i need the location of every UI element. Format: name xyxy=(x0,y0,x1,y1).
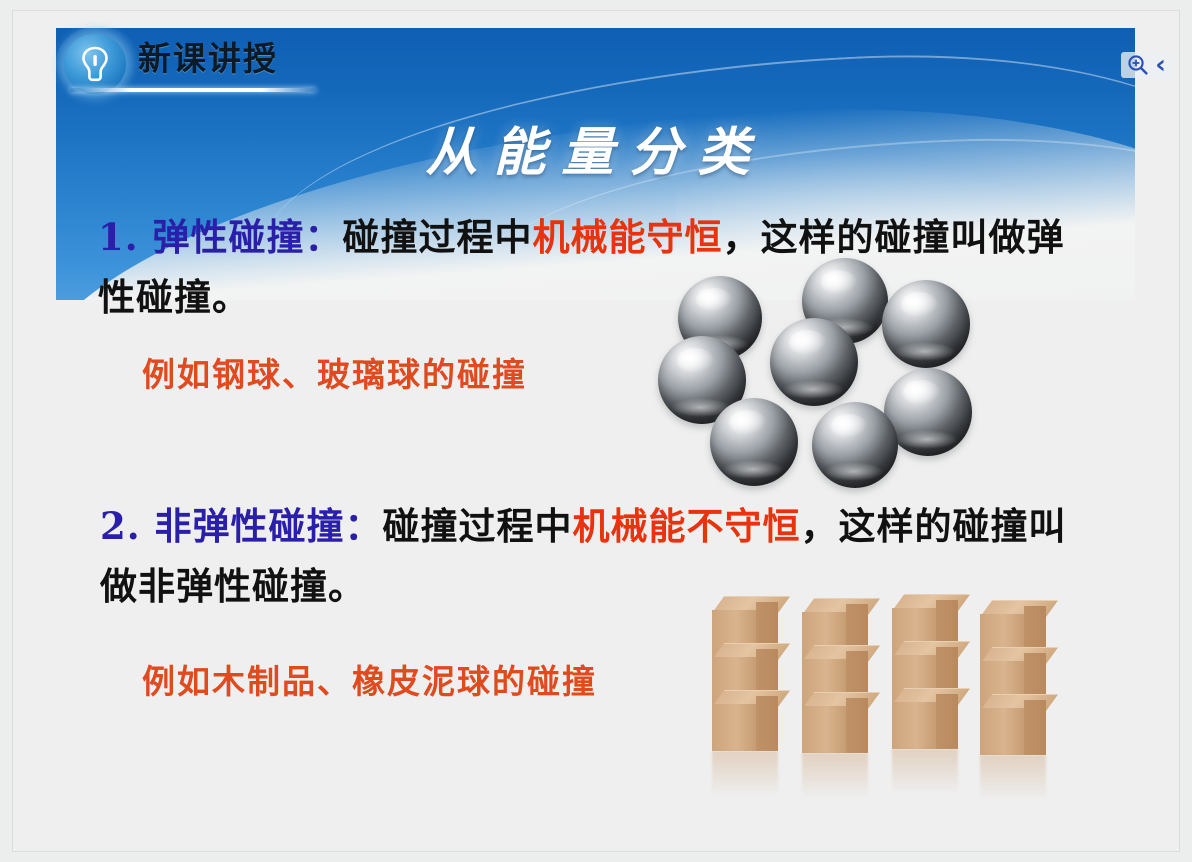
block-stack xyxy=(892,608,958,749)
wood-cube xyxy=(892,702,958,749)
block-reflection xyxy=(802,753,868,805)
zoom-controls[interactable]: ‹ xyxy=(1121,52,1172,78)
header-title: 新课讲授 xyxy=(138,34,278,84)
header-underline xyxy=(70,88,316,92)
zoom-in-icon[interactable] xyxy=(1127,54,1149,76)
block-stack xyxy=(802,612,868,753)
wood-cube xyxy=(802,706,868,753)
slide-root: 新课讲授 从能量分类 ‹ xyxy=(0,0,1192,862)
item-1-highlight: 机械能守恒 xyxy=(533,215,723,259)
item-1-text-after: ，这样的碰撞叫做弹 xyxy=(723,215,1065,259)
block-reflection xyxy=(712,751,778,803)
definition-1-line-1: 1. 弹性碰撞：碰撞过程中机械能守恒，这样的碰撞叫做弹 xyxy=(98,206,1065,268)
example-2: 例如木制品、橡皮泥球的碰撞 xyxy=(142,655,597,703)
item-2-term: 非弹性碰撞： xyxy=(155,504,383,548)
steel-ball xyxy=(882,280,970,368)
block-reflection xyxy=(892,749,958,801)
steel-ball xyxy=(770,318,858,406)
steel-ball xyxy=(812,402,898,488)
block-stack xyxy=(712,610,778,751)
steel-ball xyxy=(710,398,798,486)
wood-cube xyxy=(712,704,778,751)
page-title: 从能量分类 xyxy=(56,110,1135,185)
block-stack xyxy=(980,614,1046,755)
steel-balls-photo xyxy=(660,258,980,473)
item-1-number: 1. xyxy=(98,215,139,259)
item-1-text-before: 碰撞过程中 xyxy=(343,215,533,259)
definition-1-line-2: 性碰撞。 xyxy=(98,266,250,328)
item-2-text-before: 碰撞过程中 xyxy=(383,504,573,548)
definition-2-line-1: 2. 非弹性碰撞：碰撞过程中机械能不守恒，这样的碰撞叫 xyxy=(100,495,1067,557)
block-reflection xyxy=(980,755,1046,807)
item-2-number: 2. xyxy=(100,504,141,548)
header-row: 新课讲授 从能量分类 xyxy=(56,28,1135,100)
item-2-highlight: 机械能不守恒 xyxy=(573,504,801,548)
slide-page: 新课讲授 从能量分类 ‹ xyxy=(12,10,1180,852)
collapse-chevron-left-icon[interactable]: ‹ xyxy=(1155,55,1166,75)
item-2-text-after: ，这样的碰撞叫 xyxy=(801,504,1067,548)
item-1-term: 弹性碰撞： xyxy=(153,215,343,259)
wooden-blocks-photo xyxy=(706,592,1036,804)
example-1: 例如钢球、玻璃球的碰撞 xyxy=(142,348,527,396)
definition-2-line-2: 做非弹性碰撞。 xyxy=(100,555,366,617)
lightbulb-icon xyxy=(64,34,126,94)
wood-cube xyxy=(980,708,1046,755)
